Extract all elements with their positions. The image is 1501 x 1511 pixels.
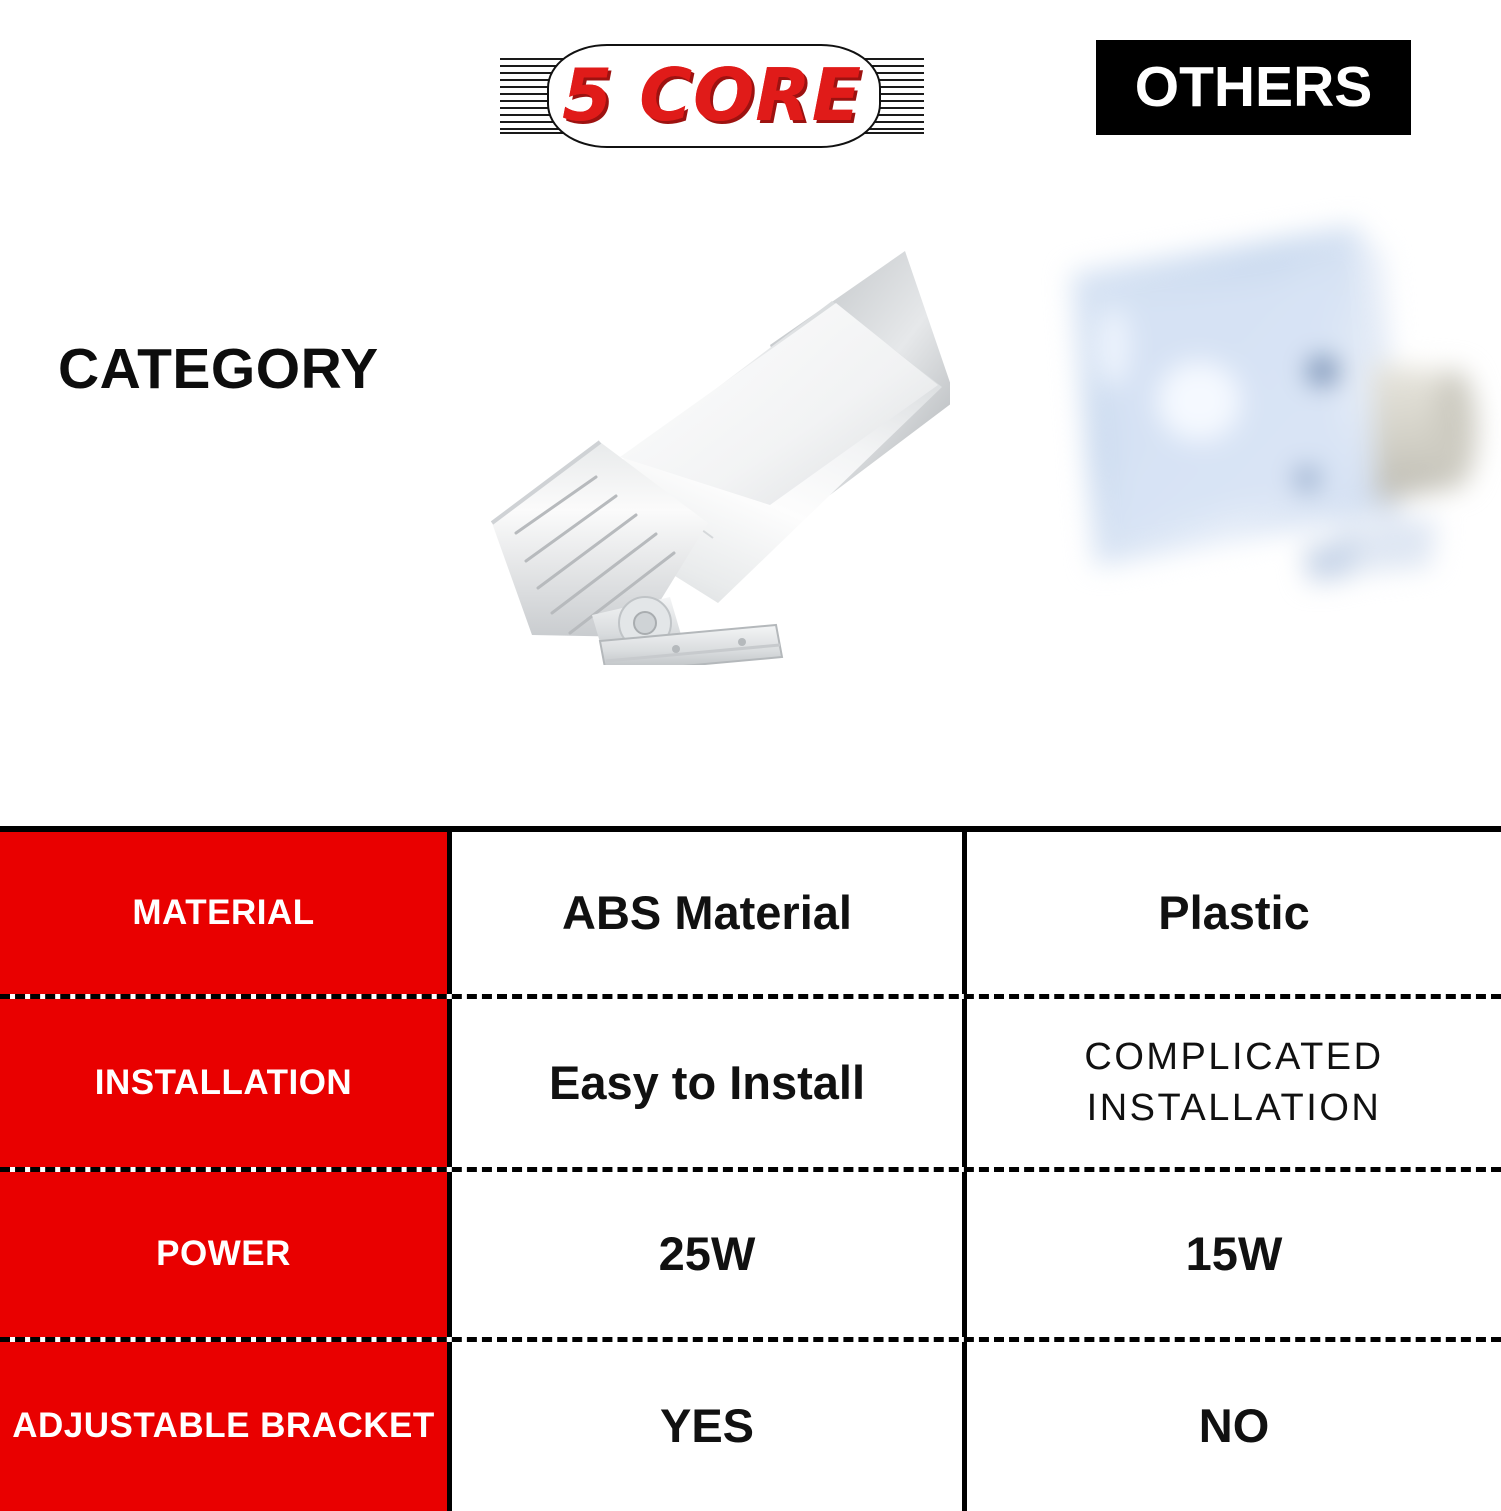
others-badge-label: OTHERS [1135,59,1373,116]
horn-speaker-icon [470,205,950,665]
comparison-table: MATERIAL ABS Material Plastic INSTALLATI… [0,826,1501,1511]
category-heading: CATEGORY [58,336,379,402]
row-value-ours-adjustable-bracket: YES [452,1342,967,1511]
row-value-theirs-power: 15W [967,1172,1501,1337]
row-value-ours-material: ABS Material [452,832,967,994]
logo-text: 5 CORE [492,42,932,147]
row-label-material: MATERIAL [0,832,452,994]
row-value-theirs-material: Plastic [967,832,1501,994]
product-image-five-core [470,205,950,665]
row-label-power: POWER [0,1172,452,1337]
row-value-ours-installation: Easy to Install [452,999,967,1167]
row-value-theirs-adjustable-bracket: NO [967,1342,1501,1511]
product-image-others [985,195,1485,675]
table-row: ADJUSTABLE BRACKET YES NO [0,1342,1501,1511]
others-badge: OTHERS [1096,40,1411,135]
row-label-installation: INSTALLATION [0,999,452,1167]
header-section: 5 CORE 5 CORE OTHERS CATEGORY [0,0,1501,826]
row-value-theirs-installation: COMPLICATED INSTALLATION [967,999,1501,1167]
table-row: POWER 25W 15W [0,1172,1501,1342]
table-row: MATERIAL ABS Material Plastic [0,832,1501,999]
row-label-adjustable-bracket: ADJUSTABLE BRACKET [0,1342,452,1511]
table-row: INSTALLATION Easy to Install COMPLICATED… [0,999,1501,1172]
row-value-ours-power: 25W [452,1172,967,1337]
five-core-logo: 5 CORE 5 CORE [492,42,932,147]
blurred-horn-speaker-icon [985,195,1485,675]
